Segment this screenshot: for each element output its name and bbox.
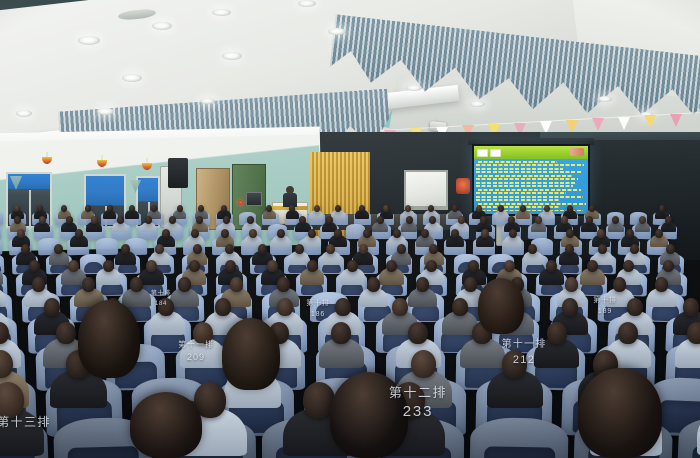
bunting-flag: [566, 120, 578, 133]
wall-speaker-left: [168, 158, 188, 188]
slide-text-line: [478, 189, 581, 191]
audience-member-head: [103, 260, 114, 272]
audience-member-head: [508, 216, 515, 224]
presenter-head: [286, 186, 294, 194]
audience-member-head: [565, 244, 574, 254]
audience-member-head: [21, 244, 30, 254]
audience-member-head: [335, 205, 341, 212]
wall-sconce-icon: [97, 160, 107, 167]
audience-member-head: [565, 277, 578, 292]
downlight-icon: [598, 96, 612, 102]
audience-member-head: [476, 205, 482, 212]
slide-text-line: [476, 171, 582, 173]
bunting-flag-triangle-icon: [592, 118, 604, 131]
lecture-hall-photo: 第十二排233第十一排212第十排186第十一排209第十排184第十排189第…: [0, 0, 700, 458]
audience-member-head: [397, 244, 406, 254]
slide-text-line: [476, 182, 575, 184]
audience-member-head: [377, 216, 384, 224]
bunting-flag: [670, 114, 682, 127]
audience-member-head: [626, 229, 634, 238]
audience-member-head: [663, 260, 674, 272]
audience-member-head: [178, 277, 191, 292]
bunting-flag: [618, 117, 630, 130]
seat-number-text: 233: [348, 403, 488, 422]
audience-member-head: [0, 382, 24, 418]
seat-row-text: 第十三排: [0, 415, 94, 430]
audience-member-head: [416, 277, 429, 292]
audience-member-head: [408, 322, 428, 344]
audience-member-head: [363, 229, 371, 238]
audience-member-head: [146, 260, 157, 272]
bunting-flag-triangle-icon: [644, 115, 656, 128]
audience-member-head: [598, 244, 607, 254]
audience-member-head: [411, 350, 436, 378]
audience-member-head: [39, 216, 46, 224]
seat-row-text: 第十排: [535, 297, 675, 306]
auditorium-seat[interactable]: [0, 238, 2, 256]
audience-member-head: [347, 260, 358, 272]
auditorium-seat[interactable]: [0, 224, 1, 240]
foreground-audience-head: [578, 368, 662, 458]
audience-member-head: [225, 244, 234, 254]
audience-member-head: [618, 322, 638, 344]
audience-member-head: [498, 205, 504, 212]
audience-member-head: [392, 298, 408, 316]
audience-member-head: [145, 216, 152, 224]
downlight-icon: [470, 101, 485, 107]
audience-member-head: [546, 260, 557, 272]
audience-member-head: [14, 216, 21, 224]
audience-member-head: [451, 229, 459, 238]
audience-member-head: [295, 244, 304, 254]
slide-text-line: [476, 196, 583, 198]
audience-member-head: [308, 229, 316, 238]
audience-member-head: [307, 260, 318, 272]
seat-row-text: 第十排: [91, 291, 231, 299]
audience-member-head: [331, 322, 351, 344]
audience-seating-area: 第十二排233第十一排212第十排186第十一排209第十排184第十排189第…: [0, 200, 700, 458]
audience-member-head: [68, 260, 79, 272]
audience-member-head: [121, 244, 130, 254]
seat-label-row10-189: 第十排189: [535, 297, 675, 317]
seat-back-panel: [67, 446, 139, 458]
audience-member-head: [189, 260, 200, 272]
audience-member-head: [249, 229, 257, 238]
audience-member-head: [429, 216, 436, 224]
seat-label-row13: 第十三排: [0, 415, 94, 432]
audience-member-head: [630, 244, 639, 254]
foreground-audience-head: [478, 278, 524, 334]
auditorium-seat[interactable]: [0, 212, 3, 226]
audience-member-head: [117, 216, 124, 224]
audience-member-head: [221, 229, 229, 238]
slide-text-line: [478, 175, 572, 177]
foreground-audience-head: [78, 300, 140, 378]
seat-row-text: 第十二排: [348, 385, 488, 401]
audience-member-head: [587, 260, 598, 272]
audience-member-head: [277, 277, 290, 292]
audience-member-head: [29, 260, 40, 272]
audience-member-head: [151, 205, 157, 212]
audience-member-head: [426, 260, 437, 272]
audience-member-head: [223, 216, 230, 224]
audience-member-head: [504, 260, 515, 272]
audience-member-head: [17, 229, 25, 238]
audience-member-head: [520, 205, 526, 212]
bunting-flag-triangle-icon: [670, 114, 682, 127]
seat-label-row12-233: 第十二排233: [348, 385, 488, 422]
audience-member-head: [687, 322, 700, 344]
audience-member-head: [66, 216, 73, 224]
audience-member-head: [177, 205, 183, 212]
slide-text-line: [476, 185, 573, 187]
slide-text-line: [476, 168, 563, 170]
audience-member-head: [428, 205, 434, 212]
slide-logo-icon: [570, 148, 584, 156]
seat-number-text: 209: [126, 352, 266, 363]
toolbar-button-1[interactable]: [477, 149, 488, 157]
audience-member-head: [107, 205, 113, 212]
audience-member-head: [655, 277, 668, 292]
audience-member-head: [334, 229, 342, 238]
slide-text-line: [476, 192, 566, 194]
seat-number-text: 186: [248, 311, 388, 320]
audience-member-head: [639, 216, 646, 224]
audience-member-head: [589, 205, 595, 212]
audience-member-head: [535, 216, 542, 224]
audience-member-head: [82, 277, 95, 292]
seat-row-text: 第十排: [248, 300, 388, 309]
slide-text-line: [476, 178, 578, 180]
bunting-flag: [644, 115, 656, 128]
audience-member-head: [32, 277, 45, 292]
audience-member-head: [85, 205, 91, 212]
toolbar-button-2[interactable]: [490, 149, 501, 157]
audience-member-head: [277, 229, 285, 238]
audience-member-head: [613, 277, 626, 292]
wall-emblem: [456, 178, 470, 194]
audience-member-head: [44, 298, 60, 316]
downlight-icon: [222, 52, 242, 60]
audience-member-head: [54, 244, 63, 254]
audience-member-head: [129, 205, 135, 212]
audience-member-head: [225, 260, 236, 272]
audience-member-head: [406, 216, 413, 224]
foreground-audience-head: [130, 392, 202, 458]
audience-member-head: [421, 229, 429, 238]
bunting-flag-triangle-icon: [618, 117, 630, 130]
seat-label-row10-186: 第十排186: [248, 300, 388, 320]
seat-number-text: 212: [454, 354, 594, 368]
seat-row-text: 第十一排: [454, 339, 594, 352]
audience-member-head: [326, 216, 333, 224]
audience-member-head: [468, 260, 479, 272]
seat-label-row11-212: 第十一排212: [454, 339, 594, 367]
seat-number-text: 184: [91, 301, 231, 309]
audience-member-head: [567, 205, 573, 212]
audience-member-head: [655, 229, 663, 238]
audience-member-head: [586, 216, 593, 224]
audience-member-head: [359, 205, 365, 212]
bunting-flag: [592, 118, 604, 131]
audience-member-head: [314, 205, 320, 212]
bunting-flag-triangle-icon: [566, 120, 578, 133]
wall-sconce-icon: [142, 163, 152, 170]
audience-member-head: [509, 229, 517, 238]
audience-member-head: [393, 229, 401, 238]
downlight-icon: [406, 85, 422, 91]
audience-member-head: [56, 322, 76, 344]
audience-member-head: [367, 277, 380, 292]
audience-member-head: [359, 244, 368, 254]
audience-member-head: [326, 244, 335, 254]
seat-row-text: 第十一排: [126, 340, 266, 350]
audience-member-head: [169, 216, 176, 224]
slide-text-line: [476, 164, 584, 166]
slide-text-line: [478, 161, 557, 163]
audience-member-head: [458, 216, 465, 224]
audience-member-head: [481, 229, 489, 238]
audience-member-head: [91, 216, 98, 224]
seat-back-panel: [484, 446, 556, 458]
audience-member-head: [221, 205, 227, 212]
audience-member-head: [162, 229, 170, 238]
audience-member-head: [561, 216, 568, 224]
audience-member-head: [191, 229, 199, 238]
downlight-icon: [298, 0, 316, 7]
audience-member-head: [383, 205, 389, 212]
seat-label-row11-209: 第十一排209: [126, 340, 266, 363]
downlight-icon: [328, 28, 346, 35]
audience-member-head: [405, 205, 411, 212]
auditorium-seat[interactable]: [96, 238, 118, 256]
audience-member-head: [196, 216, 203, 224]
audience-member-head: [683, 298, 699, 316]
audience-member-head: [198, 205, 204, 212]
audience-member-head: [130, 277, 143, 292]
audience-member-head: [566, 229, 574, 238]
wall-sconce-icon: [42, 157, 52, 164]
audience-member-head: [193, 244, 202, 254]
audience-member-head: [464, 277, 477, 292]
seat-label-row10-184: 第十排184: [91, 291, 231, 308]
seat-number-text: 189: [535, 308, 675, 317]
audience-member-head: [666, 244, 675, 254]
audience-member-head: [665, 216, 672, 224]
audience-member-head: [386, 260, 397, 272]
audience-member-head: [659, 205, 665, 212]
audience-member-head: [429, 244, 438, 254]
audience-member-head: [452, 298, 468, 316]
audience-member-head: [230, 277, 243, 292]
audience-member-head: [258, 244, 267, 254]
slide-app-toolbar: [474, 146, 588, 159]
audience-member-head: [267, 260, 278, 272]
audience-member-head: [452, 205, 458, 212]
